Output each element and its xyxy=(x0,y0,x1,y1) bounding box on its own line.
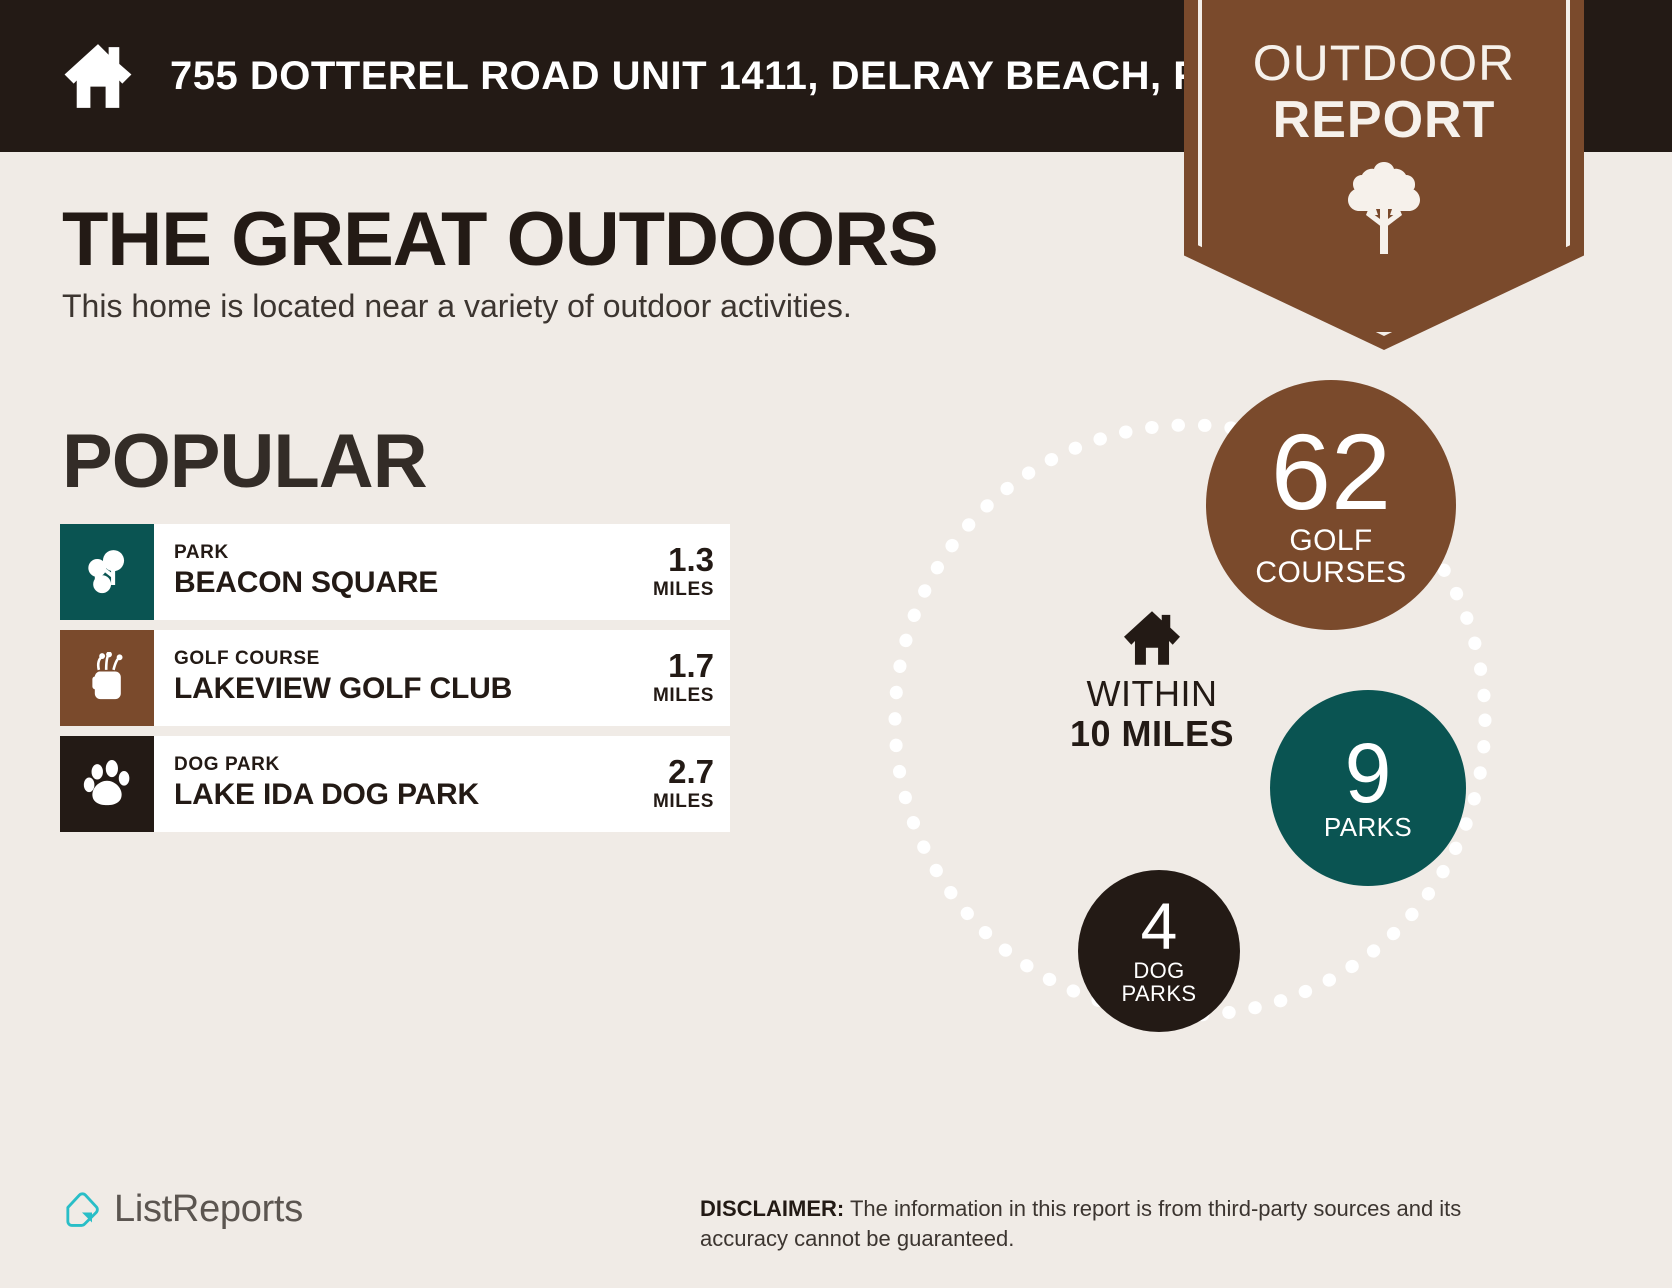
within-line2: 10 MILES xyxy=(1032,714,1272,754)
badge-title-line2: REPORT xyxy=(1184,94,1584,146)
poi-category: GOLF COURSE xyxy=(174,649,624,670)
poi-distance-unit: MILES xyxy=(624,579,714,601)
poi-names: GOLF COURSE LAKEVIEW GOLF CLUB xyxy=(174,649,624,706)
stats-ring-section: WITHIN 10 MILES 62 GOLF COURSES 9 PARKS … xyxy=(840,370,1540,1070)
disclaimer: DISCLAIMER: The information in this repo… xyxy=(700,1194,1540,1253)
poi-names: PARK BEACON SQUARE xyxy=(174,543,624,600)
golf-bag-icon xyxy=(81,652,133,704)
poi-body: PARK BEACON SQUARE 1.3 MILES xyxy=(154,524,730,620)
stat-value: 4 xyxy=(1141,896,1178,957)
stat-label-line1: PARKS xyxy=(1324,814,1412,842)
listreports-logo-text: ListReports xyxy=(114,1188,303,1231)
poi-distance: 1.7 MILES xyxy=(624,649,714,707)
listreports-logo[interactable]: ListReports xyxy=(62,1188,303,1231)
list-item[interactable]: GOLF COURSE LAKEVIEW GOLF CLUB 1.7 MILES xyxy=(60,630,730,726)
popular-section-heading: POPULAR xyxy=(62,418,427,505)
listreports-house-tag-icon xyxy=(62,1190,102,1230)
stat-value: 9 xyxy=(1345,735,1392,812)
poi-icon-tile xyxy=(60,630,154,726)
badge-title-line1: OUTDOOR xyxy=(1184,38,1584,88)
list-item[interactable]: PARK BEACON SQUARE 1.3 MILES xyxy=(60,524,730,620)
property-address: 755 DOTTEREL ROAD UNIT 1411, DELRAY BEAC… xyxy=(170,54,1348,99)
stat-label-line2: PARKS xyxy=(1122,982,1197,1005)
poi-body: DOG PARK LAKE IDA DOG PARK 2.7 MILES xyxy=(154,736,730,832)
poi-name: BEACON SQUARE xyxy=(174,566,624,601)
stat-label: PARKS xyxy=(1324,814,1412,842)
poi-name: LAKEVIEW GOLF CLUB xyxy=(174,672,624,707)
poi-body: GOLF COURSE LAKEVIEW GOLF CLUB 1.7 MILES xyxy=(154,630,730,726)
disclaimer-label: DISCLAIMER: xyxy=(700,1196,844,1221)
poi-icon-tile xyxy=(60,524,154,620)
stat-bubble-parks[interactable]: 9 PARKS xyxy=(1270,690,1466,886)
paw-print-icon xyxy=(81,758,133,810)
within-radius-label: WITHIN 10 MILES xyxy=(1032,610,1272,753)
poi-distance-value: 1.3 xyxy=(624,543,714,576)
outdoor-report-badge: OUTDOOR REPORT xyxy=(1184,0,1584,350)
tree-icon xyxy=(1343,160,1425,256)
stat-bubble-golf-courses[interactable]: 62 GOLF COURSES xyxy=(1206,380,1456,630)
poi-distance: 1.3 MILES xyxy=(624,543,714,601)
poi-name: LAKE IDA DOG PARK xyxy=(174,778,624,813)
stat-label-line2: COURSES xyxy=(1255,557,1406,589)
within-line1: WITHIN xyxy=(1032,674,1272,714)
poi-category: DOG PARK xyxy=(174,755,624,776)
stat-label: DOG PARKS xyxy=(1122,959,1197,1006)
stat-label: GOLF COURSES xyxy=(1255,525,1406,589)
page-title: THE GREAT OUTDOORS xyxy=(62,196,938,283)
page-subtitle: This home is located near a variety of o… xyxy=(62,288,852,325)
badge-title: OUTDOOR REPORT xyxy=(1184,38,1584,146)
stat-value: 62 xyxy=(1271,422,1391,521)
poi-distance-value: 1.7 xyxy=(624,649,714,682)
popular-poi-list: PARK BEACON SQUARE 1.3 MILES xyxy=(60,524,730,842)
poi-distance-unit: MILES xyxy=(624,791,714,813)
stat-label-line1: DOG xyxy=(1122,959,1197,982)
poi-category: PARK xyxy=(174,543,624,564)
poi-names: DOG PARK LAKE IDA DOG PARK xyxy=(174,755,624,812)
list-item[interactable]: DOG PARK LAKE IDA DOG PARK 2.7 MILES xyxy=(60,736,730,832)
poi-icon-tile xyxy=(60,736,154,832)
park-trees-icon xyxy=(81,546,133,598)
home-icon xyxy=(1121,610,1183,666)
poi-distance-value: 2.7 xyxy=(624,755,714,788)
stat-bubble-dog-parks[interactable]: 4 DOG PARKS xyxy=(1078,870,1240,1032)
poi-distance: 2.7 MILES xyxy=(624,755,714,813)
poi-distance-unit: MILES xyxy=(624,685,714,707)
home-icon xyxy=(60,38,136,114)
stat-label-line1: GOLF xyxy=(1255,525,1406,557)
